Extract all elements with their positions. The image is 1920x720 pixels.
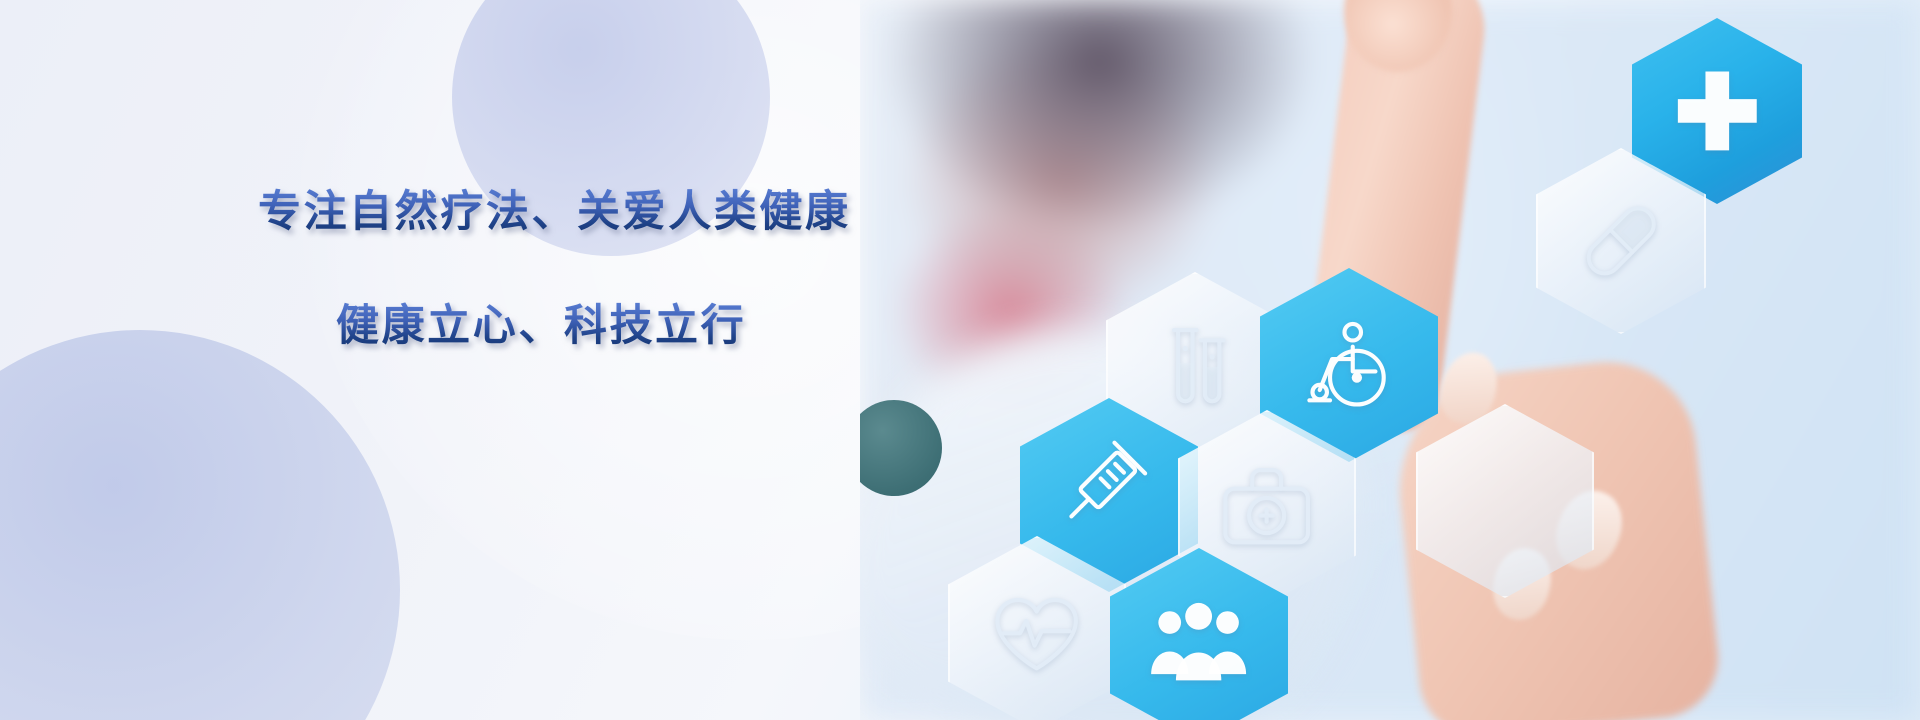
headline-block: 专注自然疗法、关爱人类健康 健康立心、科技立行 bbox=[258, 186, 878, 352]
hero-banner: 专注自然疗法、关爱人类健康 健康立心、科技立行 bbox=[0, 0, 1920, 720]
headline-line-2: 健康立心、科技立行 bbox=[336, 300, 878, 352]
headline-line-1: 专注自然疗法、关爱人类健康 bbox=[258, 186, 878, 238]
decorative-circle-bottom bbox=[0, 330, 400, 720]
hexagon-icon-cluster bbox=[860, 0, 1920, 720]
blank-hex-icon bbox=[1416, 404, 1594, 598]
hero-photo bbox=[860, 0, 1920, 720]
hex-ghost-right[interactable] bbox=[1416, 404, 1594, 598]
